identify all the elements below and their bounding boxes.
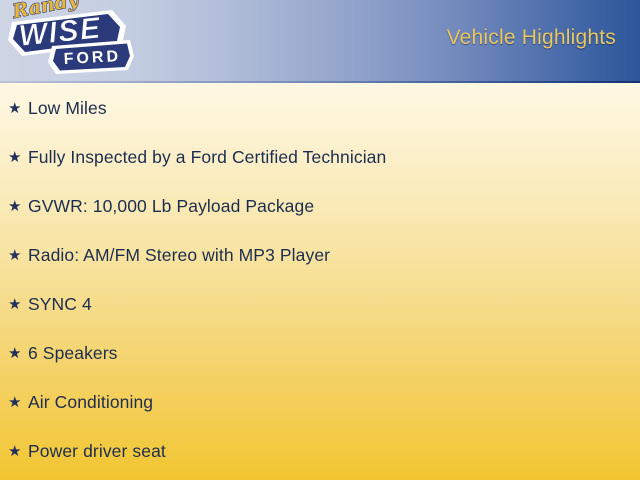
- star-icon: ★: [8, 346, 28, 361]
- highlight-label: GVWR: 10,000 Lb Payload Package: [28, 196, 314, 217]
- svg-text:FORD: FORD: [63, 48, 121, 68]
- star-icon: ★: [8, 101, 28, 116]
- star-icon: ★: [8, 199, 28, 214]
- list-item: ★ Air Conditioning: [8, 389, 153, 415]
- highlight-label: Radio: AM/FM Stereo with MP3 Player: [28, 245, 330, 266]
- vehicle-highlights-page: WISE FORD Randy Vehicle Highlights ★ Low…: [0, 0, 640, 480]
- list-item: ★ Radio: AM/FM Stereo with MP3 Player: [8, 242, 330, 268]
- vehicle-highlights-list: ★ Low Miles ★ Fully Inspected by a Ford …: [0, 83, 640, 480]
- highlight-label: 6 Speakers: [28, 343, 118, 364]
- page-header: WISE FORD Randy Vehicle Highlights: [0, 0, 640, 83]
- star-icon: ★: [8, 248, 28, 263]
- star-icon: ★: [8, 444, 28, 459]
- list-item: ★ Low Miles: [8, 95, 107, 121]
- highlight-label: Low Miles: [28, 98, 107, 119]
- highlight-label: SYNC 4: [28, 294, 92, 315]
- list-item: ★ SYNC 4: [8, 291, 92, 317]
- list-item: ★ GVWR: 10,000 Lb Payload Package: [8, 193, 314, 219]
- list-item: ★ Fully Inspected by a Ford Certified Te…: [8, 144, 386, 170]
- highlight-label: Power driver seat: [28, 441, 166, 462]
- dealer-logo[interactable]: WISE FORD Randy: [0, 0, 136, 82]
- highlight-label: Fully Inspected by a Ford Certified Tech…: [28, 147, 386, 168]
- star-icon: ★: [8, 150, 28, 165]
- page-title: Vehicle Highlights: [447, 26, 616, 50]
- list-item: ★ Power driver seat: [8, 438, 166, 464]
- highlight-label: Air Conditioning: [28, 392, 153, 413]
- star-icon: ★: [8, 297, 28, 312]
- star-icon: ★: [8, 395, 28, 410]
- list-item: ★ 6 Speakers: [8, 340, 118, 366]
